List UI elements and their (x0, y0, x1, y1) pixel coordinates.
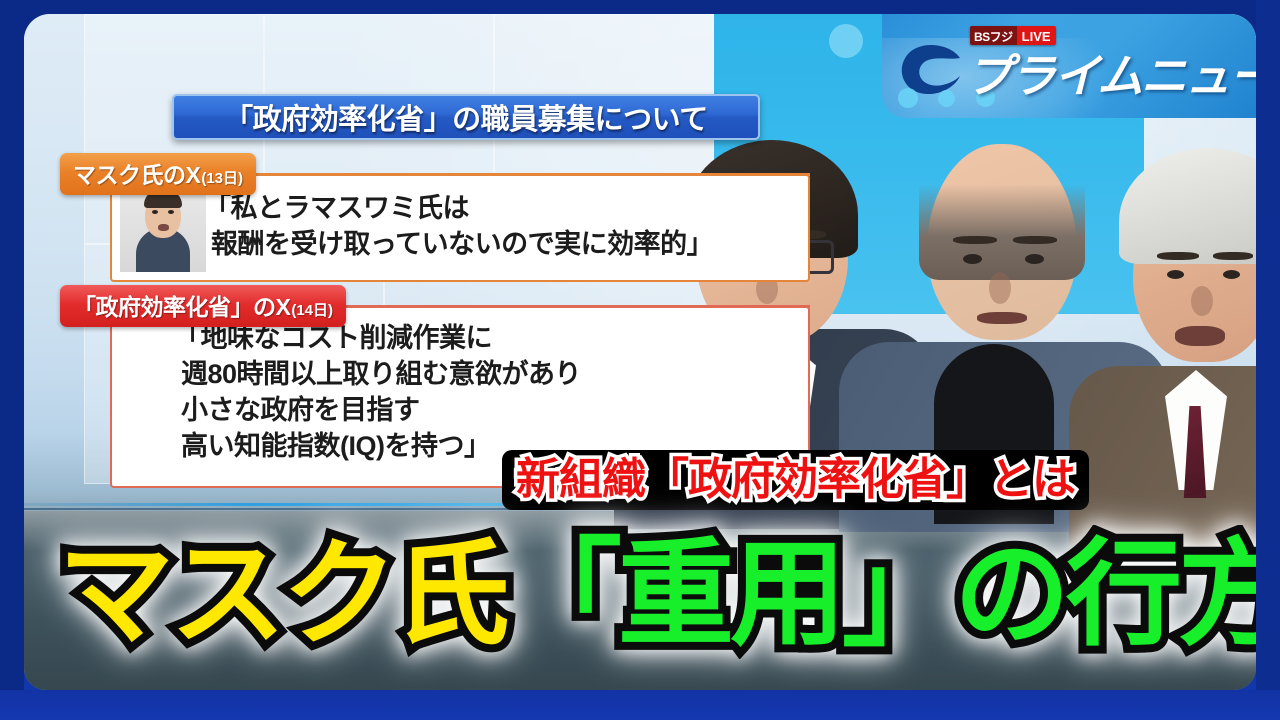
elon-musk-portrait (120, 184, 206, 272)
sub-headline-text: 新組織「政府効率化省」とは (516, 454, 1075, 506)
panelist-hair (919, 184, 1085, 280)
panelist-brow (1213, 252, 1253, 260)
program-title: プライムニュース (966, 40, 1256, 106)
quote-1-tag-date: (13日) (201, 167, 243, 188)
frame-left (0, 0, 24, 720)
panelist-mouth (1175, 326, 1225, 346)
logo-bubble (898, 88, 918, 108)
broadcast-screen: 「政府効率化省」の職員募集について 「私とラマスワミ氏は 報酬を受け取っていない… (0, 0, 1280, 720)
panelist-eye (1167, 270, 1184, 279)
main-headline: マスク氏「重用」の行方 (58, 532, 1256, 656)
quote-1-tag-main: マスク氏のX (73, 156, 200, 190)
quote-1-text: 「私とラマスワミ氏は 報酬を受け取っていないので実に効率的」 (204, 190, 713, 262)
panelist-hair (1119, 148, 1256, 264)
panelist-brow (953, 236, 997, 244)
sub-headline-banner: 新組織「政府効率化省」とは (502, 450, 1089, 510)
quote-2-tag: 「政府効率化省」のX (14日) (60, 285, 346, 327)
topic-title-banner: 「政府効率化省」の職員募集について (172, 94, 760, 140)
logo-bubble (938, 90, 955, 107)
panelist-brow (1013, 236, 1057, 244)
wall-dot (829, 24, 863, 58)
program-logo: BSフジ LIVE プライムニュース (882, 14, 1256, 118)
panelist-eye (1223, 270, 1240, 279)
panelist-eye (1025, 254, 1044, 264)
panelist-eye (963, 254, 982, 264)
quote-2-text: 「地味なコスト削減作業に 週80時間以上取り組む意欲があり 小さな政府を目指す … (174, 320, 581, 464)
quote-1-tag: マスク氏のX (13日) (60, 153, 256, 195)
topic-title-text: 「政府効率化省」の職員募集について (224, 96, 708, 138)
frame-right (1256, 0, 1280, 720)
panelist-mouth (977, 312, 1027, 324)
panelist-nose (989, 272, 1011, 304)
quote-2-tag-main: 「政府効率化省」のX (73, 288, 290, 322)
frame-bottom (0, 690, 1280, 720)
quote-2-tag-date: (14日) (291, 299, 333, 320)
main-headline-part1: マスク氏 (58, 529, 506, 659)
panelist-right (1099, 144, 1256, 514)
panelist-nose (1191, 286, 1213, 316)
main-headline-part2: 「重用」の行方 (506, 529, 1256, 659)
frame-top (0, 0, 1280, 14)
panelist-suit (1069, 366, 1256, 546)
panelist-brow (1157, 252, 1199, 260)
